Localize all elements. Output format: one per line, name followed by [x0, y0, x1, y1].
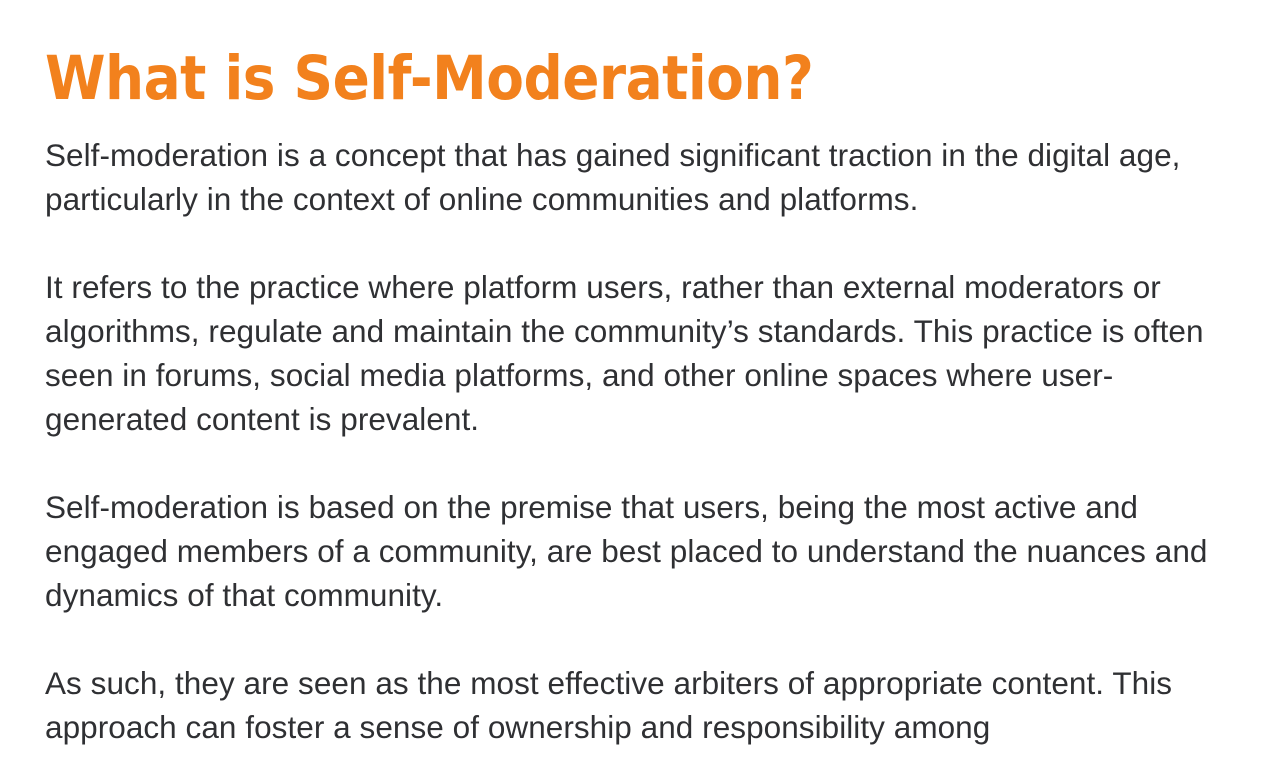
page-title: What is Self-Moderation?: [45, 0, 1230, 109]
body-paragraph: It refers to the practice where platform…: [45, 265, 1230, 441]
article-body: Self-moderation is a concept that has ga…: [45, 109, 1230, 749]
article-page: What is Self-Moderation? Self-moderation…: [0, 0, 1275, 780]
body-paragraph: As such, they are seen as the most effec…: [45, 661, 1230, 749]
body-paragraph: Self-moderation is based on the premise …: [45, 485, 1230, 617]
body-paragraph: Self-moderation is a concept that has ga…: [45, 133, 1230, 221]
